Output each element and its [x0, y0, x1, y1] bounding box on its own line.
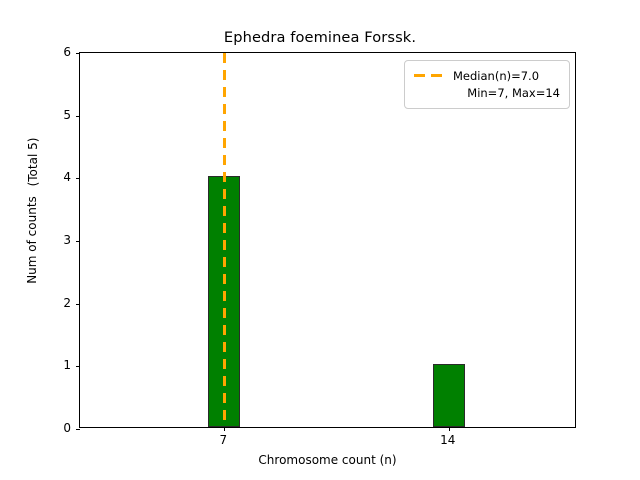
- y-tick-label: 6: [0, 45, 71, 59]
- x-tick-mark: [449, 427, 450, 431]
- y-axis-label-sub: (Total 5): [26, 107, 40, 217]
- legend-entry-median: Median(n)=7.0: [413, 67, 561, 84]
- x-tick-label: 14: [440, 433, 455, 447]
- chart-legend: Median(n)=7.0 Min=7, Max=14: [404, 60, 570, 109]
- x-tick-mark: [224, 427, 225, 431]
- legend-label-median: Median(n)=7.0: [453, 69, 539, 83]
- y-tick-label: 0: [0, 421, 71, 435]
- y-tick-label: 1: [0, 358, 71, 372]
- dashed-line-icon: [413, 67, 447, 84]
- chart-figure: Ephedra foeminea Forssk. 0123456 Num of …: [0, 0, 640, 480]
- y-tick-mark: [76, 429, 80, 430]
- legend-entry-minmax: Min=7, Max=14: [413, 84, 561, 101]
- median-line-layer: [80, 53, 575, 427]
- x-axis-label: Chromosome count (n): [79, 453, 576, 467]
- chart-title: Ephedra foeminea Forssk.: [0, 29, 640, 46]
- legend-label-minmax: Min=7, Max=14: [467, 86, 560, 100]
- x-tick-label: 7: [219, 433, 227, 447]
- median-vline: [223, 53, 226, 427]
